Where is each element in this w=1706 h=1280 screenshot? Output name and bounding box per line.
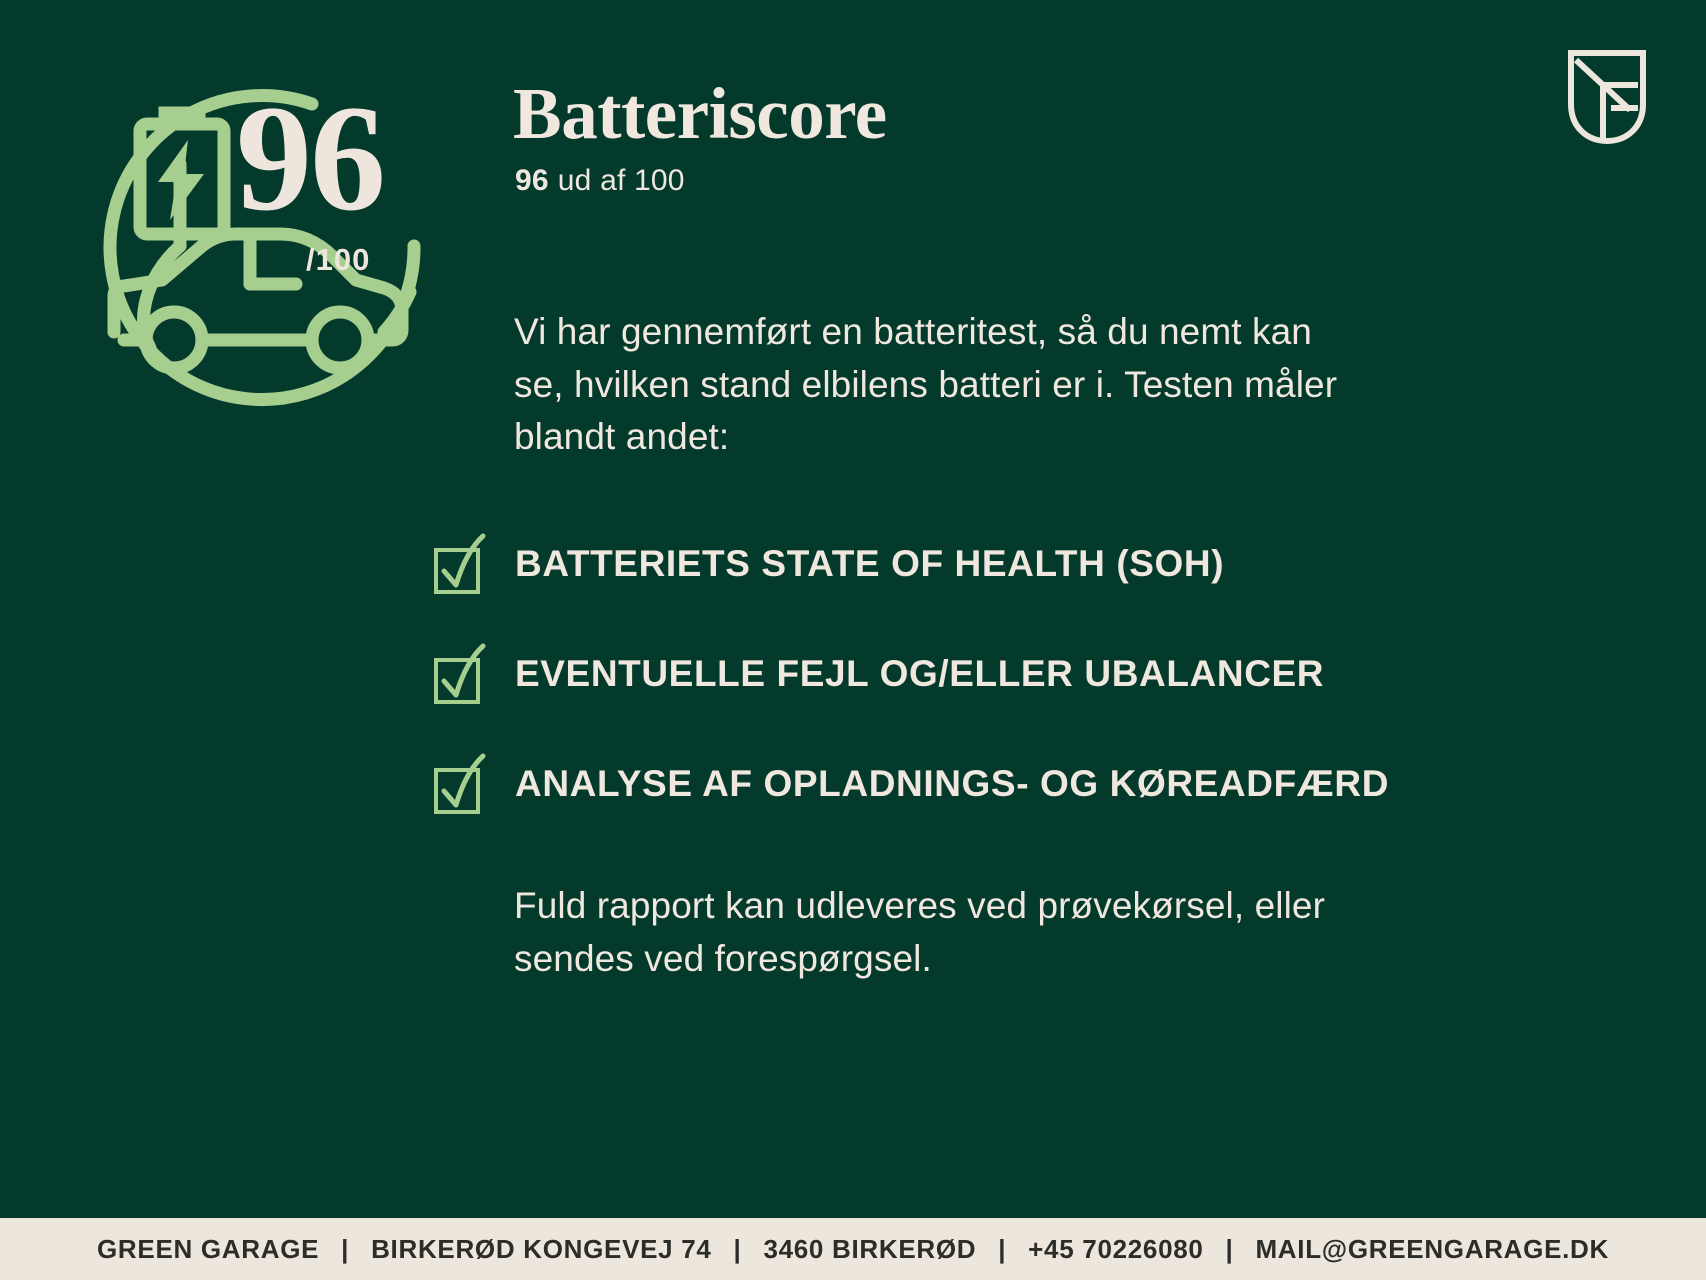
batteriscore-card: 96 /100 Batteriscore 96ud af 100 Vi har …: [0, 0, 1706, 1280]
score-subheading-value: 96: [515, 164, 549, 197]
footer-text: GREEN GARAGE | BIRKERØD KONGEVEJ 74 | 34…: [97, 1234, 1609, 1265]
footer-contact-bar: GREEN GARAGE | BIRKERØD KONGEVEJ 74 | 34…: [0, 1218, 1706, 1280]
score-subheading: 96ud af 100: [515, 164, 685, 198]
footer-separator: |: [327, 1234, 363, 1265]
footer-street: BIRKERØD KONGEVEJ 74: [371, 1234, 712, 1264]
closing-paragraph: Fuld rapport kan udleveres ved prøvekørs…: [514, 880, 1384, 985]
list-item: BATTERIETS STATE OF HEALTH (SOH): [433, 512, 1493, 616]
footer-separator: |: [984, 1234, 1020, 1265]
footer-separator: |: [720, 1234, 756, 1265]
battery-score-badge: 96 /100: [84, 46, 444, 396]
intro-paragraph: Vi har gennemført en batteritest, så du …: [514, 306, 1344, 464]
checkbox-checked-icon: [433, 753, 485, 815]
score-number: 96: [236, 82, 384, 234]
footer-city: 3460 BIRKERØD: [763, 1234, 976, 1264]
footer-company: GREEN GARAGE: [97, 1234, 319, 1264]
green-garage-logo: [1566, 48, 1648, 146]
footer-email[interactable]: MAIL@GREENGARAGE.DK: [1255, 1234, 1609, 1264]
footer-separator: |: [1212, 1234, 1248, 1265]
score-out-of-label: /100: [306, 242, 370, 278]
test-checklist: BATTERIETS STATE OF HEALTH (SOH) EVENTUE…: [433, 512, 1493, 842]
checkbox-checked-icon: [433, 533, 485, 595]
page-title: Batteriscore: [513, 76, 887, 153]
score-subheading-suffix: ud af 100: [558, 164, 685, 197]
list-item: ANALYSE AF OPLADNINGS- OG KØREADFÆRD: [433, 732, 1493, 836]
checkbox-checked-icon: [433, 643, 485, 705]
checklist-item-label: ANALYSE AF OPLADNINGS- OG KØREADFÆRD: [515, 763, 1389, 805]
footer-phone[interactable]: +45 70226080: [1028, 1234, 1203, 1264]
checklist-item-label: BATTERIETS STATE OF HEALTH (SOH): [515, 543, 1224, 585]
list-item: EVENTUELLE FEJL OG/ELLER UBALANCER: [433, 622, 1493, 726]
checklist-item-label: EVENTUELLE FEJL OG/ELLER UBALANCER: [515, 653, 1324, 695]
leaf-mark-icon: [1576, 60, 1638, 138]
